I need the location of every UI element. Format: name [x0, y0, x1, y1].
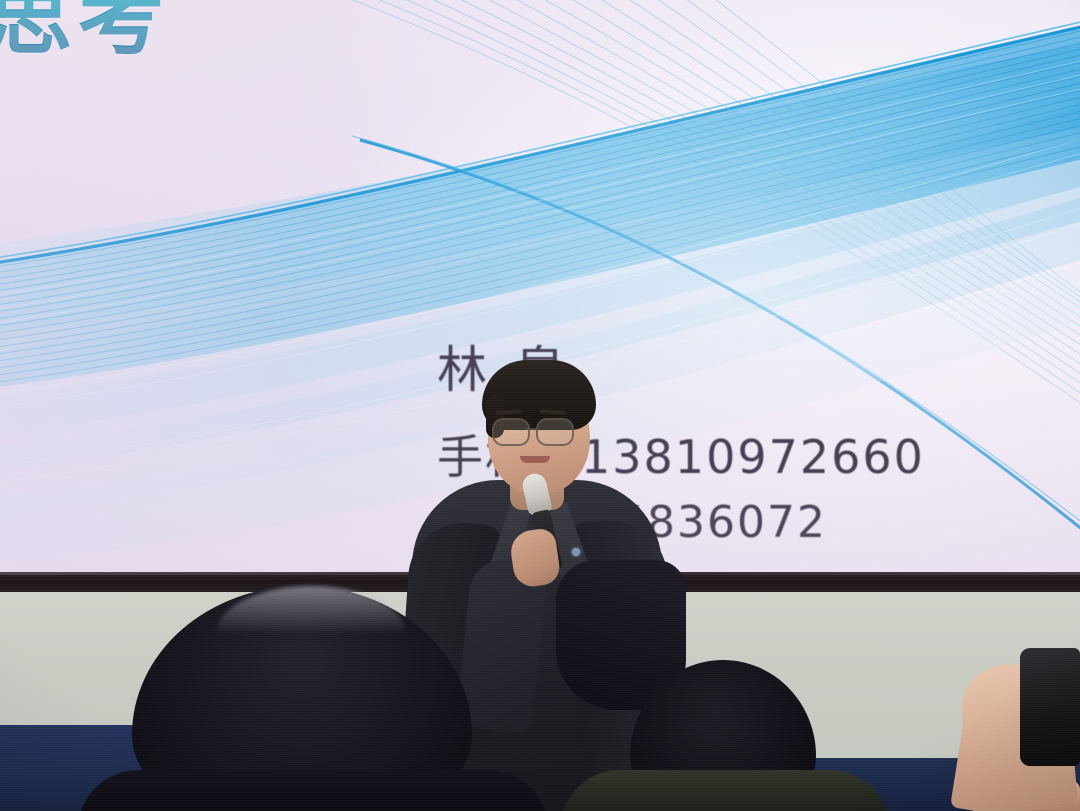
- speaker-lapel-pin: [572, 548, 580, 556]
- eyeglasses-bridge: [526, 428, 536, 430]
- speaker-mouth: [520, 456, 550, 463]
- slide-title: 思考: [0, 0, 170, 60]
- eyeglasses-lens-left: [492, 418, 530, 446]
- audience-shoulder-foreground: [78, 770, 548, 811]
- smartphone-icon: [1020, 648, 1080, 766]
- audience-shoulder-secondary: [560, 770, 890, 811]
- eyeglasses-lens-right: [536, 418, 574, 446]
- presentation-photo-scene: 思考 林 泉 手机：13810972660 5836072: [0, 0, 1080, 811]
